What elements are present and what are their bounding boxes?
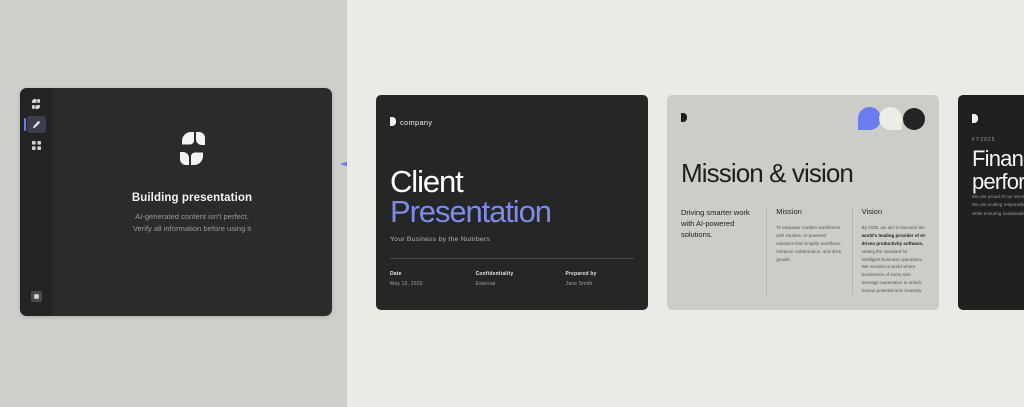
meta-prepared-by: Prepared by Jane Smith bbox=[566, 271, 634, 287]
loading-subtitle-line-1: AI-generated content isn't perfect. bbox=[135, 211, 249, 223]
app-sidebar bbox=[20, 88, 52, 316]
meta-value: External bbox=[476, 281, 566, 287]
loading-canvas: Building presentation AI-generated conte… bbox=[52, 88, 332, 316]
slide-title-block: Financial performance bbox=[972, 147, 1024, 194]
decorative-shapes bbox=[858, 107, 925, 130]
meta-confidentiality: Confidentiality External bbox=[476, 271, 566, 287]
logo-icon bbox=[32, 99, 40, 109]
slide-brand bbox=[972, 110, 1024, 128]
loading-subtitle-line-2: Verify all information before using it bbox=[133, 223, 251, 235]
column-heading: Vision bbox=[862, 207, 927, 216]
brand-name: company bbox=[400, 118, 432, 127]
circle-dark-icon bbox=[903, 108, 925, 130]
edit-icon bbox=[32, 120, 41, 129]
slide-title-block: Client Presentation bbox=[390, 167, 551, 227]
slide-body: We are proud of our strong financial We … bbox=[972, 193, 1024, 218]
app-window: Building presentation AI-generated conte… bbox=[20, 88, 332, 316]
half-petal-icon bbox=[972, 110, 978, 128]
column-body: To empower modern workforces with intuit… bbox=[776, 224, 841, 263]
half-circle-cream-icon bbox=[879, 107, 902, 130]
column-heading: Mission bbox=[776, 207, 841, 216]
meta-date: Date May 15, 2025 bbox=[390, 271, 476, 287]
body-bold: world's leading provider of AI-driven pr… bbox=[862, 233, 926, 246]
column-mission: Mission To empower modern workforces wit… bbox=[766, 207, 841, 295]
slide-title-line-2: performance bbox=[972, 170, 1024, 193]
slide-meta-row: Date May 15, 2025 Confidentiality Extern… bbox=[390, 271, 634, 287]
column-vision: Vision By 2030, we aim to become the wor… bbox=[852, 207, 927, 295]
body-line-1: We are proud of our strong financial bbox=[972, 193, 1024, 201]
slide-subtitle: Your Business by the Numbers bbox=[390, 236, 490, 243]
body-line-3: while ensuring sustainability bbox=[972, 210, 1024, 218]
divider bbox=[390, 258, 634, 259]
half-petal-icon bbox=[390, 113, 396, 131]
slide-brand: company bbox=[390, 113, 634, 131]
meta-value: May 15, 2025 bbox=[390, 281, 476, 287]
grid-icon bbox=[32, 141, 41, 150]
slide-financial-performance[interactable]: FY2025 Financial performance We are prou… bbox=[958, 95, 1024, 310]
quarter-circle-blue-icon bbox=[858, 107, 881, 130]
sidebar-item-stop[interactable] bbox=[27, 288, 46, 305]
sidebar-item-grid[interactable] bbox=[27, 137, 46, 154]
meta-label: Date bbox=[390, 271, 476, 277]
petal-logo-icon bbox=[180, 132, 205, 170]
body-line-2: We are scaling responsibly, maximizing bbox=[972, 201, 1024, 209]
sidebar-item-edit[interactable] bbox=[27, 116, 46, 133]
slide-title: Mission & vision bbox=[681, 158, 853, 189]
slide-title-line-1: Client bbox=[390, 167, 551, 197]
left-preview-panel: Building presentation AI-generated conte… bbox=[0, 0, 347, 407]
body-suffix: setting the standard for intelligent bus… bbox=[862, 249, 924, 293]
meta-label: Confidentiality bbox=[476, 271, 566, 277]
body-prefix: By 2030, we aim to become the bbox=[862, 225, 925, 230]
slide-columns: Driving smarter work with AI-powered sol… bbox=[681, 207, 927, 295]
meta-label: Prepared by bbox=[566, 271, 634, 277]
meta-value: Jane Smith bbox=[566, 281, 634, 287]
slide-strip-panel: company Client Presentation Your Busines… bbox=[347, 0, 1024, 407]
slide-client-presentation[interactable]: company Client Presentation Your Busines… bbox=[376, 95, 648, 310]
column-body: By 2030, we aim to become the world's le… bbox=[862, 224, 927, 295]
slide-lead: Driving smarter work with AI-powered sol… bbox=[681, 207, 756, 295]
half-petal-icon bbox=[681, 109, 687, 127]
slide-title-line-2: Presentation bbox=[390, 197, 551, 227]
loading-title: Building presentation bbox=[132, 192, 252, 204]
slide-eyebrow: FY2025 bbox=[972, 137, 996, 143]
slide-mission-vision[interactable]: Mission & vision Driving smarter work wi… bbox=[667, 95, 939, 310]
stop-icon bbox=[31, 291, 42, 302]
slide-title-line-1: Financial bbox=[972, 147, 1024, 170]
sidebar-item-logo[interactable] bbox=[27, 95, 46, 112]
